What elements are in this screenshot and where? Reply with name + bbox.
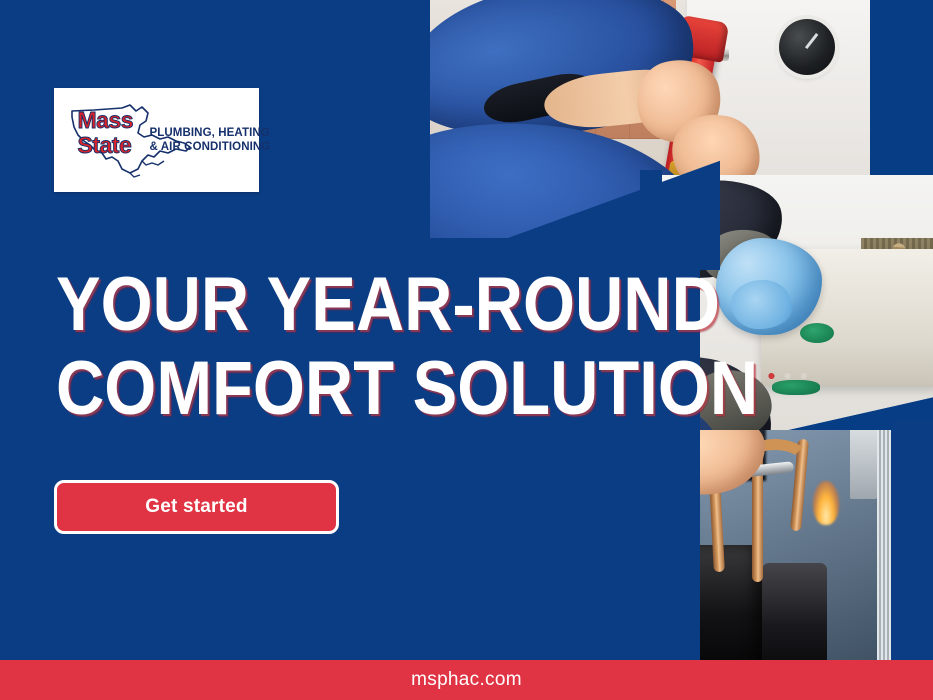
- get-started-button[interactable]: Get started: [54, 480, 339, 534]
- compressor-secondary: [762, 563, 827, 660]
- hvac-indicator-lights: [766, 372, 820, 380]
- hvac-green-marking-a: [800, 323, 834, 343]
- headline-line-1: YOUR YEAR-ROUND: [56, 268, 602, 342]
- footer-bar: msphac.com: [0, 660, 933, 700]
- logo-tagline-line-2: & AIR CONDITIONING: [150, 141, 271, 155]
- brazing-torch-flame-icon: [813, 481, 839, 525]
- logo-tagline-line-1: PLUMBING, HEATING: [150, 127, 271, 141]
- logo-word-mass: Mass: [78, 109, 134, 132]
- logo-wordmark: Mass State: [78, 109, 134, 157]
- get-started-button-label: Get started: [145, 496, 248, 518]
- promotional-banner: Mass State PLUMBING, HEATING & AIR CONDI…: [0, 0, 933, 700]
- logo-tagline: PLUMBING, HEATING & AIR CONDITIONING: [150, 127, 271, 154]
- hvac-green-marking-b: [772, 380, 820, 395]
- condenser-bracket: [850, 430, 878, 499]
- website-url[interactable]: msphac.com: [411, 669, 522, 691]
- logo-mark: Mass State PLUMBING, HEATING & AIR CONDI…: [62, 97, 252, 183]
- headline-line-2: COMFORT SOLUTION: [56, 352, 602, 426]
- navy-strip-right-edge: [891, 420, 933, 660]
- logo-word-state: State: [78, 134, 134, 157]
- headline: YOUR YEAR-ROUND COMFORT SOLUTION: [56, 268, 676, 425]
- company-logo-card[interactable]: Mass State PLUMBING, HEATING & AIR CONDI…: [54, 88, 259, 192]
- pressure-gauge-icon: [779, 19, 835, 75]
